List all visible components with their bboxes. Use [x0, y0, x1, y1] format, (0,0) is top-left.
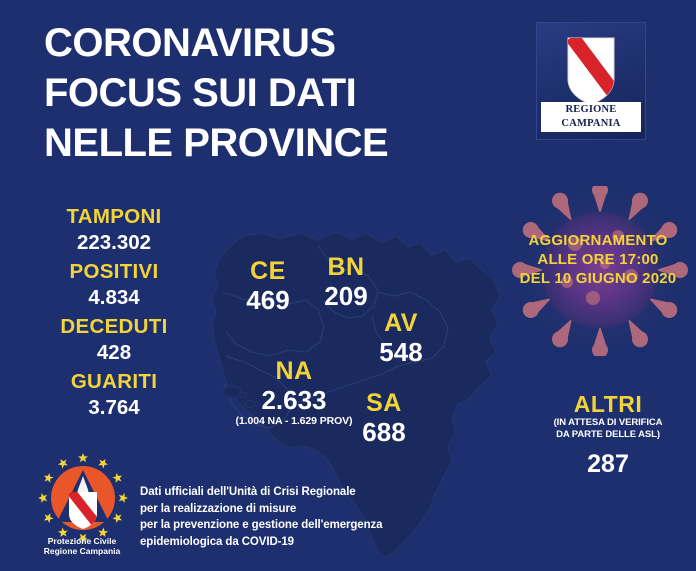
province-value-bn: 209: [310, 281, 382, 311]
province-label-avellino: AV 548: [365, 310, 437, 367]
update-block: AGGIORNAMENTO ALLE ORE 17:00 DEL 10 GIUG…: [505, 186, 691, 356]
stat-value-tamponi: 223.302: [30, 229, 198, 256]
province-code-sa: SA: [348, 390, 420, 417]
footer-line-4: epidemiologica da COVID-19: [140, 534, 470, 551]
province-code-na: NA: [234, 358, 354, 385]
update-line-3: DEL 10 GIUGNO 2020: [505, 269, 691, 288]
title-line-3: NELLE PROVINCE: [44, 118, 514, 168]
altri-value: 287: [520, 450, 696, 478]
pc-caption: Protezione Civile Regione Campania: [31, 536, 133, 556]
province-value-sa: 688: [348, 417, 420, 447]
province-code-ce: CE: [232, 258, 304, 285]
title-line-2: FOCUS SUI DATI: [44, 68, 514, 118]
update-line-1: AGGIORNAMENTO: [505, 231, 691, 250]
province-code-av: AV: [365, 310, 437, 337]
province-label-benevento: BN 209: [310, 254, 382, 311]
altri-block: ALTRI (IN ATTESA DI VERIFICA DA PARTE DE…: [520, 392, 696, 478]
infographic-poster: CORONAVIRUS FOCUS SUI DATI NELLE PROVINC…: [0, 0, 696, 571]
pc-caption-line-2: Regione Campania: [31, 546, 133, 556]
title-line-1: CORONAVIRUS: [44, 18, 514, 68]
stat-label-deceduti: DECEDUTI: [30, 314, 198, 339]
stat-value-guariti: 3.764: [30, 394, 198, 421]
stat-value-positivi: 4.834: [30, 284, 198, 311]
stat-value-deceduti: 428: [30, 339, 198, 366]
altri-subtitle-2: DA PARTE DELLE ASL): [520, 429, 696, 441]
protezione-civile-logo: Protezione Civile Regione Campania: [31, 452, 133, 556]
regione-logo-caption: REGIONE CAMPANIA: [541, 102, 641, 132]
province-value-na: 2.633: [234, 385, 354, 415]
province-code-bn: BN: [310, 254, 382, 281]
update-line-2: ALLE ORE 17:00: [505, 250, 691, 269]
province-breakdown-na: (1.004 NA - 1.629 PROV): [234, 415, 354, 428]
regione-campania-logo: REGIONE CAMPANIA: [536, 22, 646, 140]
stat-label-guariti: GUARITI: [30, 369, 198, 394]
province-label-caserta: CE 469: [232, 258, 304, 315]
footer-line-2: per la realizzazione di misure: [140, 501, 470, 518]
stat-label-positivi: POSITIVI: [30, 259, 198, 284]
province-value-av: 548: [365, 337, 437, 367]
pc-caption-line-1: Protezione Civile: [31, 536, 133, 546]
footer-line-1: Dati ufficiali dell'Unità di Crisi Regio…: [140, 484, 470, 501]
altri-title: ALTRI: [520, 392, 696, 417]
altri-subtitle-1: (IN ATTESA DI VERIFICA: [520, 417, 696, 429]
footer-line-3: per la prevenzione e gestione dell'emerg…: [140, 517, 470, 534]
page-title: CORONAVIRUS FOCUS SUI DATI NELLE PROVINC…: [44, 18, 514, 168]
stat-label-tamponi: TAMPONI: [30, 204, 198, 229]
footer-disclaimer: Dati ufficiali dell'Unità di Crisi Regio…: [140, 484, 470, 550]
province-label-salerno: SA 688: [348, 390, 420, 447]
province-label-napoli: NA 2.633 (1.004 NA - 1.629 PROV): [234, 358, 354, 428]
stats-panel: TAMPONI 223.302 POSITIVI 4.834 DECEDUTI …: [30, 204, 198, 424]
province-value-ce: 469: [232, 285, 304, 315]
update-text: AGGIORNAMENTO ALLE ORE 17:00 DEL 10 GIUG…: [505, 231, 691, 288]
shield-graphic: [564, 35, 618, 112]
